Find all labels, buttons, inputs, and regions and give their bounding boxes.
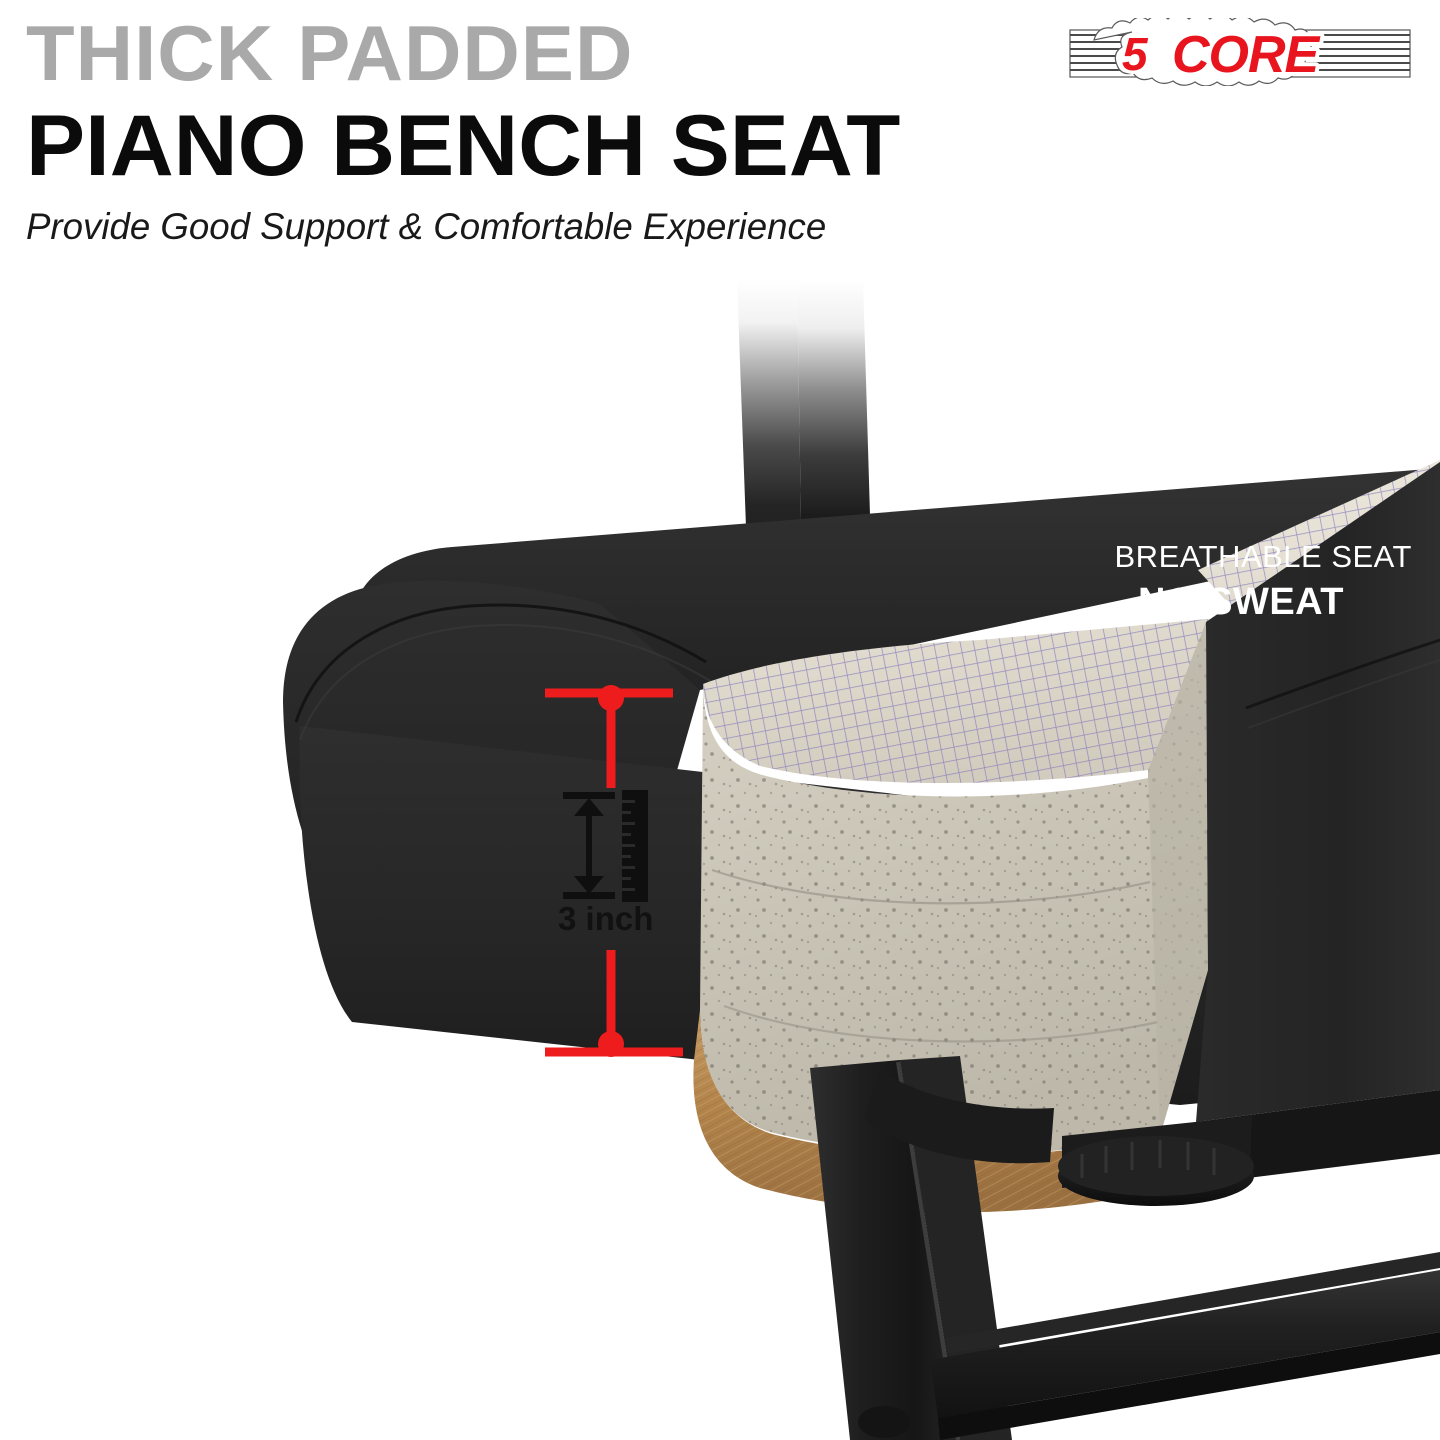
svg-text:5: 5 — [1122, 28, 1149, 80]
page-eyebrow: THICK PADDED — [26, 14, 633, 92]
thickness-value-label: 3 inch — [558, 902, 653, 935]
floor-glide — [858, 1406, 910, 1438]
five-core-logo: 5 5 CORE CORE — [1064, 18, 1416, 86]
thickness-measurement — [520, 680, 720, 1070]
cross-bar — [930, 1252, 1440, 1440]
callout-no-sweat: NO SWEAT — [1138, 583, 1344, 621]
ruler-thickness-icon — [563, 790, 648, 902]
product-photo — [0, 270, 1440, 1440]
callout-breathable-seat: BREATHABLE SEAT — [1115, 541, 1413, 572]
page-title: PIANO BENCH SEAT — [26, 103, 900, 189]
page-subtitle: Provide Good Support & Comfortable Exper… — [26, 208, 826, 245]
infographic-canvas: THICK PADDED PIANO BENCH SEAT Provide Go… — [0, 0, 1440, 1440]
svg-text:CORE: CORE — [1172, 26, 1321, 84]
measure-red-guides — [545, 685, 683, 1057]
